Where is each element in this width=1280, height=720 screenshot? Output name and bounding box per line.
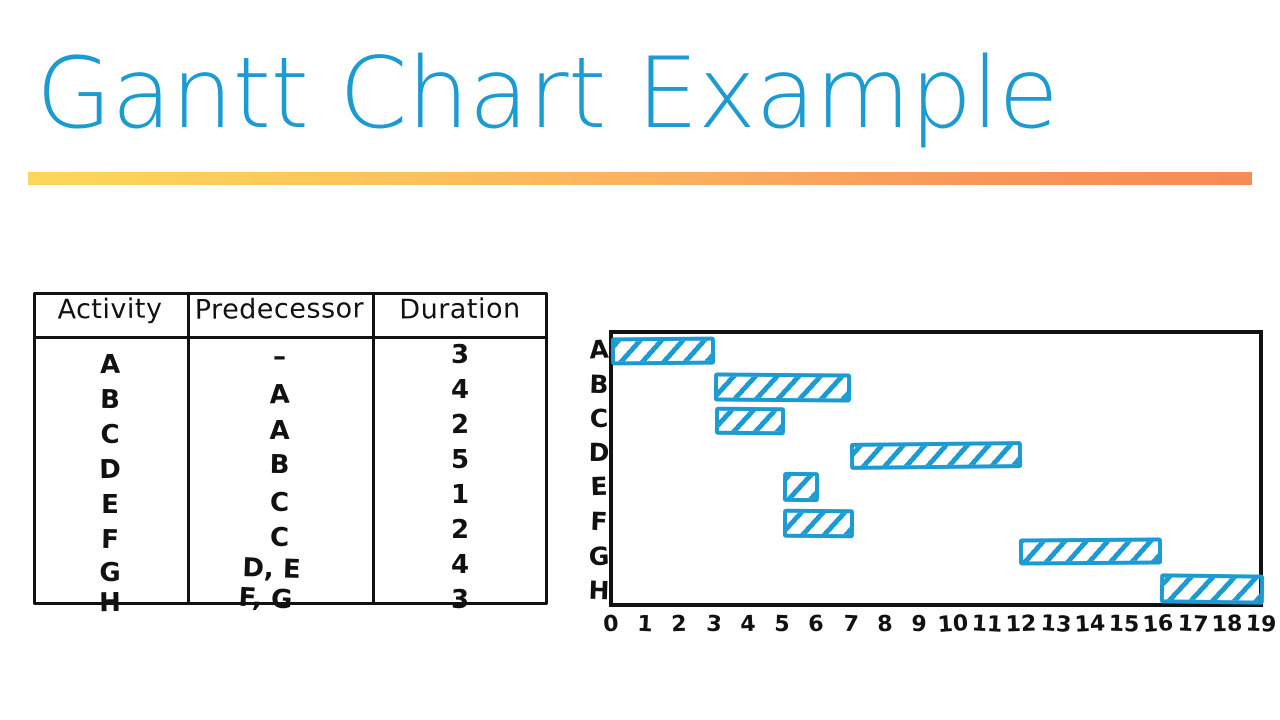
table-row: 1 [372,480,548,510]
table-row: A [187,416,372,446]
table-row: 2 [372,408,548,441]
gantt-x-tick: 5 [768,614,797,637]
table-row: 4 [372,550,548,580]
table-row: C [33,420,187,450]
table-row: H [33,587,188,620]
gantt-x-tick: 12 [1004,613,1039,636]
table-header-predecessor: Predecessor [187,293,372,326]
table-header-duration: Duration [372,293,548,326]
gantt-y-label-e: E [588,474,611,500]
gantt-x-tick: 16 [1140,613,1175,637]
table-row: B [33,384,188,417]
gantt-bar-c [715,407,785,436]
gantt-x-tick: 8 [870,613,899,636]
table-row: 5 [372,445,548,475]
gantt-y-label-h: H [588,578,611,604]
gantt-x-tick: 18 [1210,613,1245,636]
gantt-chart: A B C D E F G H 0 1 2 3 4 5 6 7 8 9 10 1… [588,326,1278,646]
gantt-x-tick: 19 [1243,613,1278,637]
gantt-bar-e [783,472,819,502]
gantt-x-tick: 4 [733,613,762,636]
table-row: G [33,558,187,588]
table-row: C [187,488,372,518]
table-row: C [187,523,372,553]
gantt-y-label-f: F [588,509,611,535]
page-title: Gantt Chart Example [36,34,1058,154]
gantt-bar-g [1019,538,1162,566]
table-row: – [187,342,372,372]
table-row: E [33,490,187,520]
gantt-x-tick: 17 [1175,613,1210,637]
gantt-bar-d [850,441,1022,470]
gantt-x-tick: 3 [699,613,728,637]
title-block: Gantt Chart Example [0,0,1280,200]
gantt-x-tick: 11 [969,613,1004,637]
title-underline-gradient [28,172,1252,185]
table-row: A [33,349,188,382]
table-row: F [33,524,188,557]
gantt-y-label-d: D [588,440,610,465]
table-row: 2 [372,515,548,545]
table-row: 4 [372,375,548,405]
table-row: 3 [372,340,548,370]
gantt-x-tick: 1 [630,613,659,636]
gantt-bar-f [783,509,854,538]
gantt-y-label-c: C [588,406,611,432]
gantt-x-tick: 10 [935,613,970,637]
gantt-x-tick: 15 [1107,613,1142,636]
table-row: 3 [372,585,548,615]
gantt-y-label-g: G [587,543,610,569]
gantt-x-tick: 6 [801,613,830,637]
table-header-activity: Activity [33,293,187,325]
gantt-bar-b [714,373,851,403]
gantt-x-tick: 7 [836,613,865,636]
activity-table: Activity Predecessor Duration A B C D E … [33,292,548,605]
table-row: D [33,454,188,487]
gantt-bar-h [1160,573,1264,604]
gantt-bar-a [611,337,715,366]
gantt-x-tick: 2 [665,614,694,637]
table-row: B [187,448,372,481]
gantt-x-tick: 14 [1072,613,1107,637]
gantt-y-label-a: A [587,336,610,362]
gantt-y-label-b: B [588,372,611,398]
gantt-x-tick: 13 [1038,613,1073,637]
gantt-x-tick: 9 [905,614,934,637]
gantt-x-tick: 0 [596,613,625,637]
